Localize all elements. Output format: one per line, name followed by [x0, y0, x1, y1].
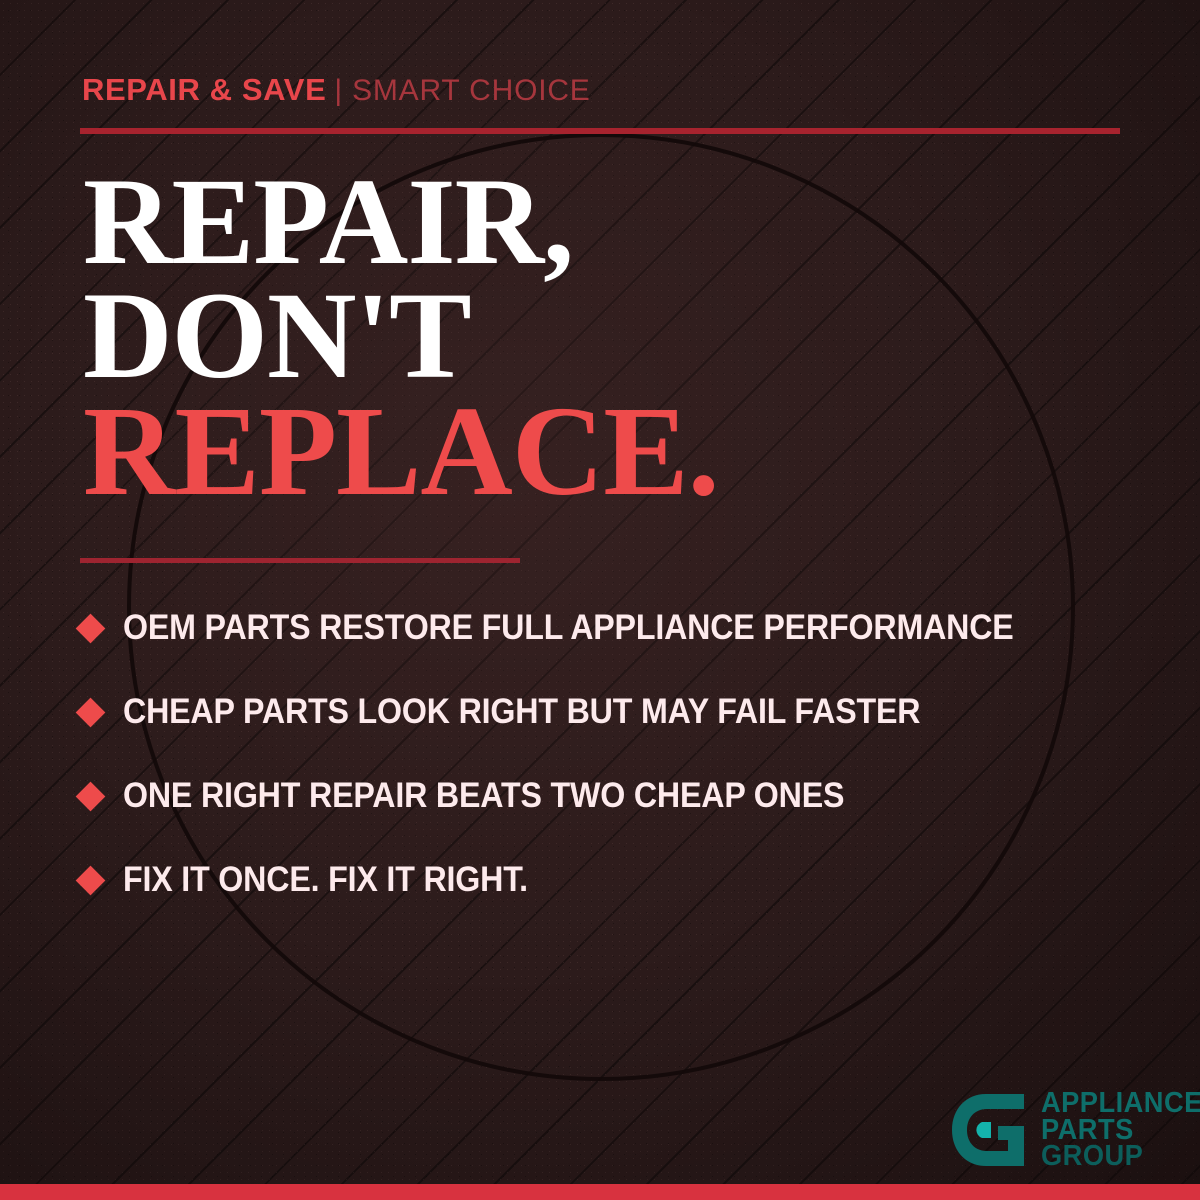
headline-line-1: REPAIR, — [83, 165, 719, 279]
list-item-label: OEM PARTS RESTORE FULL APPLIANCE PERFORM… — [123, 608, 1014, 648]
poster-canvas: REPAIR & SAVE| SMART CHOICE REPAIR, DON'… — [0, 0, 1200, 1200]
list-item: CHEAP PARTS LOOK RIGHT BUT MAY FAIL FAST… — [80, 670, 1160, 754]
diamond-bullet-icon — [76, 865, 106, 895]
bottom-accent-bar — [0, 1184, 1200, 1200]
brand-word-group: GROUP — [1041, 1143, 1200, 1170]
brand-logo: APPLIANCE PARTS GROUP — [946, 1088, 1200, 1172]
page-title: REPAIR, DON'T REPLACE. — [83, 165, 719, 511]
headline-divider-rule — [80, 558, 520, 563]
list-item-label: ONE RIGHT REPAIR BEATS TWO CHEAP ONES — [123, 776, 844, 816]
brand-word-appliance: APPLIANCE — [1041, 1090, 1200, 1117]
list-item: FIX IT ONCE. FIX IT RIGHT. — [80, 838, 1160, 922]
header-kicker: REPAIR & SAVE — [82, 72, 326, 107]
header-subtitle: | SMART CHOICE — [334, 74, 590, 107]
diamond-bullet-icon — [76, 613, 106, 643]
list-item-label: CHEAP PARTS LOOK RIGHT BUT MAY FAIL FAST… — [123, 692, 920, 732]
g-monogram-icon — [946, 1088, 1030, 1172]
brand-logo-wordmark: APPLIANCE PARTS GROUP — [1041, 1090, 1200, 1171]
header-eyebrow: REPAIR & SAVE| SMART CHOICE — [82, 74, 591, 106]
list-item-label: FIX IT ONCE. FIX IT RIGHT. — [123, 860, 528, 900]
benefit-list: OEM PARTS RESTORE FULL APPLIANCE PERFORM… — [80, 586, 1160, 922]
diamond-bullet-icon — [76, 781, 106, 811]
headline-line-3: REPLACE. — [83, 393, 719, 511]
list-item: ONE RIGHT REPAIR BEATS TWO CHEAP ONES — [80, 754, 1160, 838]
headline-line-2: DON'T — [83, 279, 719, 393]
brand-word-parts: PARTS — [1041, 1117, 1200, 1144]
header-divider-rule — [80, 128, 1120, 134]
diamond-bullet-icon — [76, 697, 106, 727]
poster-content: REPAIR & SAVE| SMART CHOICE REPAIR, DON'… — [0, 0, 1200, 1200]
list-item: OEM PARTS RESTORE FULL APPLIANCE PERFORM… — [80, 586, 1160, 670]
